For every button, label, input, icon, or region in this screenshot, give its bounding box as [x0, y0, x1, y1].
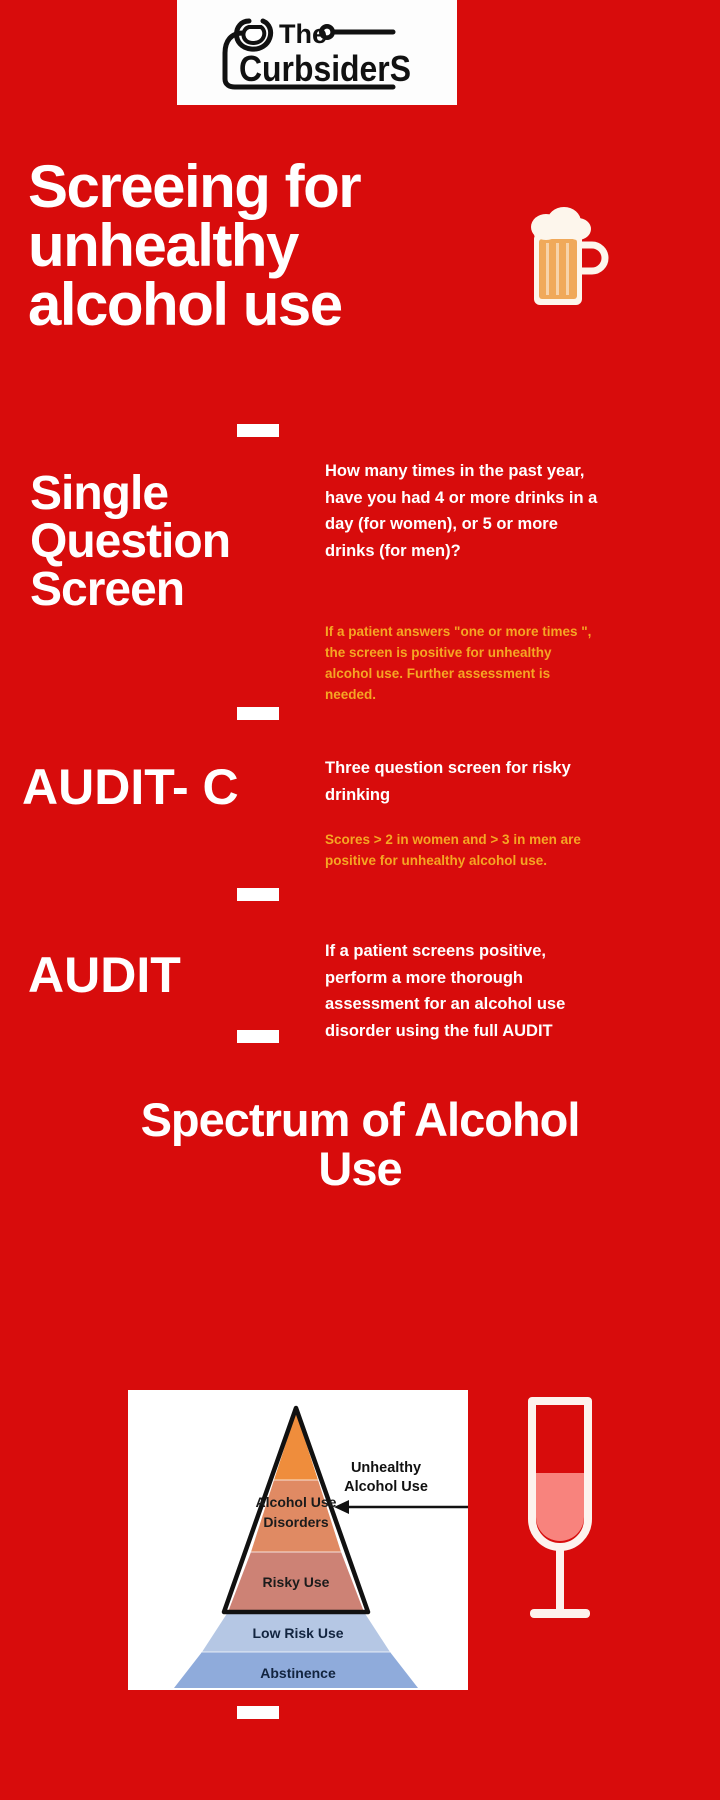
- spectrum-pyramid-panel: Alcohol Use Disorders Risky Use Low Risk…: [128, 1390, 468, 1690]
- section-body-audit-c: Three question screen for risky drinking: [325, 755, 600, 808]
- logo-word-curbsiders: CurbsiderS: [239, 48, 411, 89]
- spectrum-heading-line-1: Spectrum of Alcohol: [0, 1095, 720, 1144]
- spectrum-heading-line-2: Use: [0, 1144, 720, 1193]
- divider-dash-5: [237, 1706, 279, 1719]
- page-title-line-2: unhealthy: [28, 217, 528, 276]
- alcohol-use-pyramid: Alcohol Use Disorders Risky Use Low Risk…: [128, 1390, 468, 1690]
- pyramid-label-abstinence: Abstinence: [260, 1665, 336, 1681]
- page-title-line-1: Screeing for: [28, 158, 528, 217]
- sqs-label-line-3: Screen: [30, 566, 310, 614]
- section-body-audit: If a patient screens positive, perform a…: [325, 938, 600, 1045]
- infographic-page: The CurbsiderS Screeing for unhealthy al…: [0, 0, 720, 1800]
- section-label-audit: AUDIT: [28, 950, 318, 1000]
- section-body-single-question-screen: How many times in the past year, have yo…: [325, 458, 600, 565]
- section-note-single-question-screen: If a patient answers "one or more times …: [325, 622, 597, 706]
- pyramid-annotation-line-1: Unhealthy: [351, 1460, 421, 1476]
- pyramid-label-alcohol-use: Alcohol Use: [256, 1494, 337, 1510]
- page-title: Screeing for unhealthy alcohol use: [28, 158, 528, 334]
- divider-dash-2: [237, 707, 279, 720]
- sqs-label-line-2: Question: [30, 518, 310, 566]
- brand-logo: The CurbsiderS: [197, 13, 437, 93]
- pyramid-label-disorders: Disorders: [263, 1514, 329, 1530]
- sqs-label-line-1: Single: [30, 470, 310, 518]
- logo-word-the: The: [279, 19, 327, 49]
- spectrum-heading: Spectrum of Alcohol Use: [0, 1095, 720, 1194]
- divider-dash-1: [237, 424, 279, 437]
- wine-glass-icon: [518, 1395, 602, 1635]
- section-label-audit-c: AUDIT- C: [22, 762, 312, 812]
- page-title-line-3: alcohol use: [28, 276, 528, 335]
- pyramid-label-risky-use: Risky Use: [263, 1574, 330, 1590]
- section-label-single-question-screen: Single Question Screen: [30, 470, 310, 614]
- section-note-audit-c: Scores > 2 in women and > 3 in men are p…: [325, 830, 597, 872]
- stethoscope-icon: The CurbsiderS: [197, 13, 437, 93]
- brand-logo-plate: The CurbsiderS: [177, 0, 457, 105]
- pyramid-annotation-line-2: Alcohol Use: [344, 1479, 428, 1495]
- pyramid-label-low-risk-use: Low Risk Use: [252, 1625, 343, 1641]
- beer-mug-icon: [508, 193, 613, 318]
- divider-dash-4: [237, 1030, 279, 1043]
- divider-dash-3: [237, 888, 279, 901]
